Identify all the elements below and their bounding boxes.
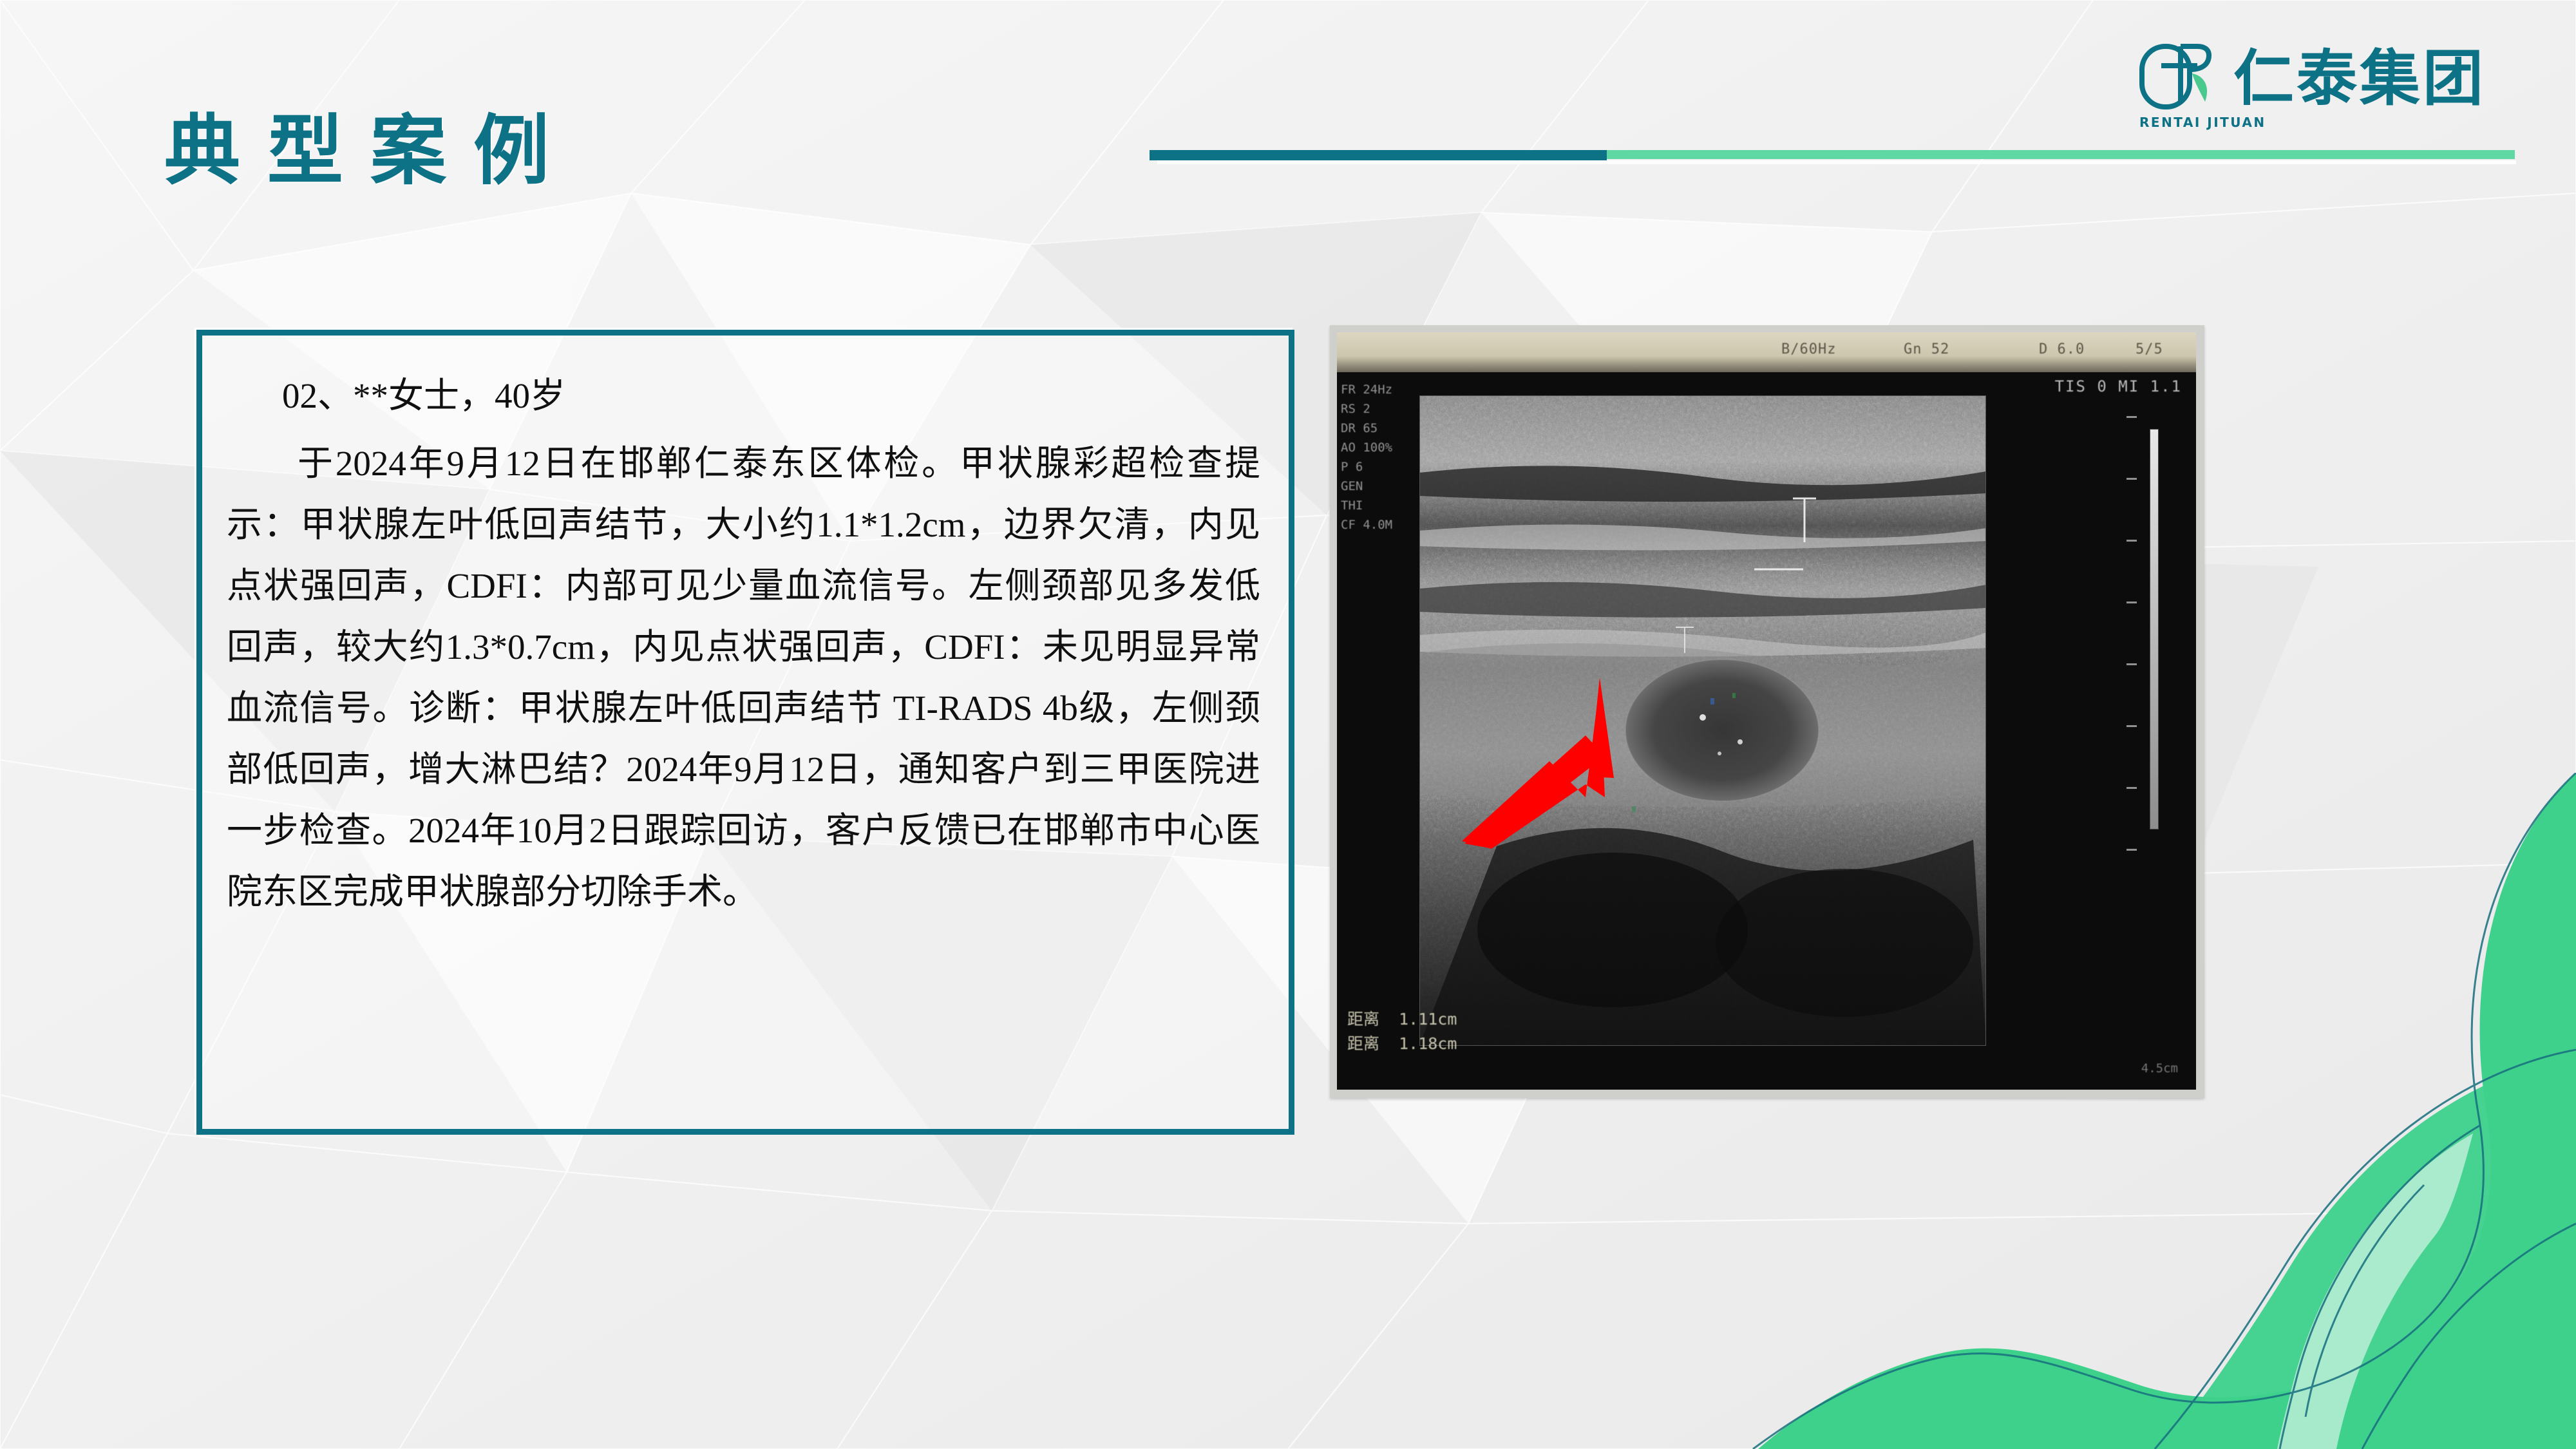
case-text-body: 02、**女士，40岁 于2024年9月12日在邯郸仁泰东区体检。甲状腺彩超检查… [202,336,1289,922]
us-topbar-text-far: 5/5 [2136,341,2163,357]
divider-segment-teal [1150,150,1607,160]
page-title: 典型案例 [164,113,576,189]
header-divider [1150,150,2515,160]
ultrasound-depth-label: 4.5cm [2141,1061,2178,1075]
ultrasound-depth-gauge [2150,429,2159,829]
slide-canvas: 典型案例 RENTAI JITUAN 仁泰集团 02、**女士，40岁 [0,0,2576,1449]
us-topbar-text-right: D 6.0 [2039,341,2085,357]
ultrasound-tis-mi-indicator: TIS 0 MI 1.1 [2055,377,2182,395]
us-topbar-text-mid: Gn 52 [1904,341,1949,357]
divider-shadow [1157,160,2516,164]
brand-logo: RENTAI JITUAN 仁泰集团 [2138,40,2486,130]
case-heading: 02、**女士，40岁 [227,365,1260,426]
ultrasound-screen: B/60Hz Gn 52 D 6.0 5/5 TIS 0 MI 1.1 FR 2… [1337,332,2196,1090]
case-paragraph: 于2024年9月12日在邯郸仁泰东区体检。甲状腺彩超检查提示：甲状腺左叶低回声结… [227,433,1260,922]
ultrasound-panel: B/60Hz Gn 52 D 6.0 5/5 TIS 0 MI 1.1 FR 2… [1330,325,2204,1098]
ultrasound-measurements: 距离 1.11cm 距离 1.18cm [1347,1007,1457,1056]
case-text-card: 02、**女士，40岁 于2024年9月12日在邯郸仁泰东区体检。甲状腺彩超检查… [196,330,1294,1135]
rentai-monogram-icon: RENTAI JITUAN [2138,40,2217,130]
us-topbar-text-left: B/60Hz [1781,341,1836,357]
logo-wordmark: 仁泰集团 [2233,49,2486,109]
measure-line-1: 距离 1.11cm [1347,1010,1457,1028]
ultrasound-top-bar: B/60Hz Gn 52 D 6.0 5/5 [1337,332,2196,372]
ultrasound-scan-region [1419,395,1986,1046]
ultrasound-gauge-ticks [2120,416,2137,854]
divider-segment-green [1607,150,2515,159]
measure-line-2: 距离 1.18cm [1347,1034,1457,1053]
logo-pinyin: RENTAI JITUAN [2139,115,2266,130]
